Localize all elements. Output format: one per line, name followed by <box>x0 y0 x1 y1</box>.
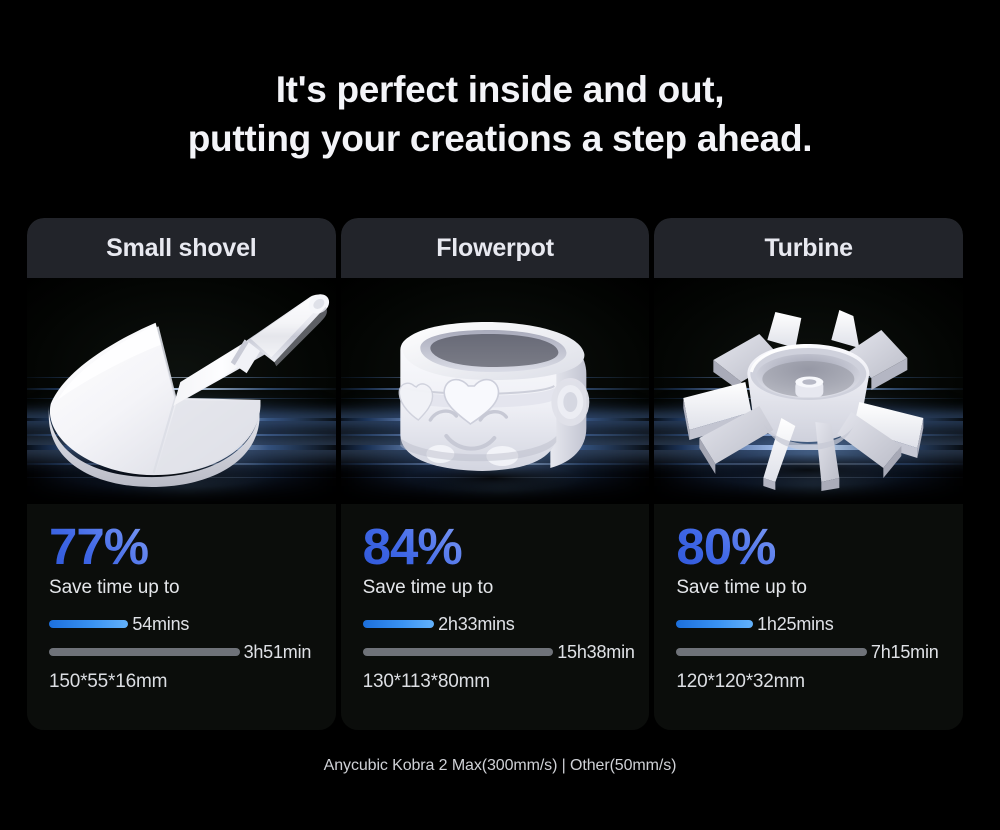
savings-percent: 77% <box>49 520 148 574</box>
slow-print-row: 7h15min <box>676 643 941 662</box>
card-header: Small shovel <box>27 218 336 278</box>
savings-percent: 80% <box>676 520 775 574</box>
page-title: It's perfect inside and out, putting you… <box>0 66 1000 164</box>
headline-line-1: It's perfect inside and out, <box>0 66 1000 115</box>
card-stats: 77% Save time up to 54mins 3h51min 150*5… <box>27 504 336 730</box>
slow-print-bar <box>363 648 554 656</box>
speed-comparison-note: Anycubic Kobra 2 Max(300mm/s) | Other(50… <box>0 757 1000 775</box>
product-card-small-shovel[interactable]: Small shovel <box>27 218 336 730</box>
model-dimensions: 150*55*16mm <box>49 671 314 693</box>
card-stats: 80% Save time up to 1h25mins 7h15min 120… <box>654 504 963 730</box>
card-header: Turbine <box>654 218 963 278</box>
fast-print-bar <box>49 620 128 628</box>
time-comparison-bars: 2h33mins 15h38min <box>363 615 628 662</box>
flowerpot-icon <box>341 278 650 504</box>
time-comparison-bars: 1h25mins 7h15min <box>676 615 941 662</box>
slow-print-time: 3h51min <box>244 642 312 663</box>
slow-print-row: 15h38min <box>363 643 628 662</box>
card-header: Flowerpot <box>341 218 650 278</box>
save-time-label: Save time up to <box>363 577 628 599</box>
product-card-turbine[interactable]: Turbine <box>654 218 963 730</box>
model-dimensions: 130*113*80mm <box>363 671 628 693</box>
card-title: Turbine <box>764 234 852 263</box>
slow-print-row: 3h51min <box>49 643 314 662</box>
fast-print-row: 1h25mins <box>676 615 941 634</box>
model-dimensions: 120*120*32mm <box>676 671 941 693</box>
product-image-stage <box>341 278 650 504</box>
slow-print-time: 7h15min <box>871 642 939 663</box>
slow-print-bar <box>49 648 240 656</box>
time-comparison-bars: 54mins 3h51min <box>49 615 314 662</box>
card-title: Flowerpot <box>436 234 554 263</box>
fast-print-bar <box>363 620 434 628</box>
fast-print-bar <box>676 620 753 628</box>
card-stats: 84% Save time up to 2h33mins 15h38min 13… <box>341 504 650 730</box>
save-time-label: Save time up to <box>676 577 941 599</box>
product-image-stage <box>27 278 336 504</box>
turbine-icon <box>654 278 963 504</box>
fast-print-time: 2h33mins <box>438 614 514 635</box>
fast-print-row: 2h33mins <box>363 615 628 634</box>
slow-print-time: 15h38min <box>557 642 634 663</box>
fast-print-time: 54mins <box>132 614 189 635</box>
savings-percent: 84% <box>363 520 462 574</box>
headline-line-2: putting your creations a step ahead. <box>0 115 1000 164</box>
shovel-icon <box>27 278 336 504</box>
product-card-row: Small shovel <box>27 218 963 730</box>
save-time-label: Save time up to <box>49 577 314 599</box>
product-card-flowerpot[interactable]: Flowerpot <box>341 218 650 730</box>
slow-print-bar <box>676 648 867 656</box>
fast-print-time: 1h25mins <box>757 614 833 635</box>
fast-print-row: 54mins <box>49 615 314 634</box>
card-title: Small shovel <box>106 234 256 263</box>
product-image-stage <box>654 278 963 504</box>
